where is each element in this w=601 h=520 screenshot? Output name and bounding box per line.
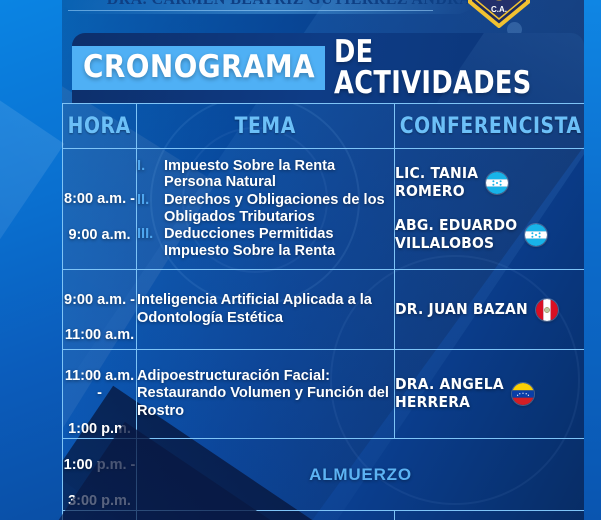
time-range: 9:00 a.m. - 11:00 a.m. [63,274,136,345]
schedule-table-wrapper: HORA TEMA CONFERENCISTA 8:00 a.m. - [62,103,584,520]
time-start: 9:00 a.m. - [64,292,135,308]
lunch-label: ALMUERZO [309,465,412,484]
topic-item: Derechos y Obligaciones de los Obligados… [137,192,394,225]
cell-time [63,511,137,520]
topic-list: Impuesto Sobre la Renta Persona Natural … [137,158,394,260]
column-header-conferencista: CONFERENCISTA [395,104,585,149]
speaker-name: DR. JUAN BAZAN [395,301,528,319]
cell-time: 1:00 p.m. - 3:00 p.m. [63,439,137,511]
top-speaker-banner: DRA. CARMEN BEATRIZ GUTIERREZ ANDRADE [0,0,601,14]
cell-topic: Inteligencia Artificial Aplicada a la Od… [137,270,395,350]
time-range: 11:00 a.m. - 1:00 p.m. [63,350,136,438]
page-edge-left-sheen [0,60,64,520]
topic-item: Deducciones Permitidas Impuesto Sobre la… [137,226,394,259]
column-header-hora: HORA [63,104,137,149]
cell-speaker: DR. JUAN BAZAN [395,270,585,350]
banner-rule [68,10,433,11]
cell-time: 8:00 a.m. - 9:00 a.m. [63,149,137,270]
cell-topic [137,511,395,520]
shield-badge-text: C.A. [491,5,507,14]
page-title-rest: DE ACTIVIDADES [334,37,564,99]
schedule-table: HORA TEMA CONFERENCISTA 8:00 a.m. - [62,103,584,520]
column-header-tema: TEMA [137,104,395,149]
cell-lunch: ALMUERZO [137,439,585,511]
speaker-name-line: DRA. ANGELA [395,375,504,393]
cell-time: 11:00 a.m. - 1:00 p.m. [63,350,137,439]
time-end: 9:00 a.m. [68,227,130,243]
banner-glow [60,0,480,14]
speaker-entry: ABG. EDUARDO VILLALOBOS [395,217,584,253]
honduras-flag-icon [486,172,508,194]
topic-text: Inteligencia Artificial Aplicada a la Od… [137,292,394,328]
time-start: 1:00 p.m. - [64,457,136,473]
time-end: 11:00 a.m. [65,327,134,343]
table-row: 9:00 a.m. - 11:00 a.m. Inteligencia Arti… [63,270,585,350]
time-end: 1:00 p.m. [68,421,131,437]
topic-item: Impuesto Sobre la Renta Persona Natural [137,158,394,191]
table-header-row: HORA TEMA CONFERENCISTA [63,104,585,149]
cell-speaker: LIC. TANIA ROMERO [395,149,585,270]
topic-text: Adipoestructuración Facial: Restaurando … [137,368,394,421]
honduras-flag-icon [525,224,547,246]
speaker-name-line: ROMERO [395,182,465,200]
time-range: 1:00 p.m. - 3:00 p.m. [63,439,136,510]
title-bar: CRONOGRAMA DE ACTIVIDADES [72,33,584,103]
column-header-tema-label: TEMA [235,114,296,139]
column-header-conferencista-label: CONFERENCISTA [400,114,582,139]
speaker-name-line: ABG. EDUARDO [395,216,517,234]
venezuela-flag-icon [512,383,534,405]
time-end: 3:00 p.m. [68,493,131,509]
table-row [63,511,585,520]
speaker-name-line: VILLALOBOS [395,234,494,252]
page-title-highlight: CRONOGRAMA [83,49,315,85]
cronograma-poster: DRA. CARMEN BEATRIZ GUTIERREZ ANDRADE C.… [0,0,601,520]
speaker-name-line: HERRERA [395,393,470,411]
cell-speaker [395,511,585,520]
time-range: 8:00 a.m. - 9:00 a.m. [63,174,136,245]
peru-flag-icon [536,299,558,321]
table-row: 11:00 a.m. - 1:00 p.m. Adipoestructuraci… [63,350,585,439]
speaker-name-line: LIC. TANIA [395,164,478,182]
title-highlight-block: CRONOGRAMA [72,46,325,90]
speaker-entry: LIC. TANIA ROMERO [395,165,584,201]
speaker-entry: DR. JUAN BAZAN [395,299,584,321]
speaker-entry: DRA. ANGELA HERRERA [395,376,584,412]
time-start: 11:00 a.m. - [65,368,134,402]
time-start: 8:00 a.m. - [64,191,135,207]
page-edge-left [0,0,62,520]
cell-time: 9:00 a.m. - 11:00 a.m. [63,270,137,350]
shield-badge-icon: C.A. [466,0,532,28]
speaker-name: ABG. EDUARDO VILLALOBOS [395,217,517,253]
cell-topic: Adipoestructuración Facial: Restaurando … [137,350,395,439]
cell-topic: Impuesto Sobre la Renta Persona Natural … [137,149,395,270]
speaker-name: DRA. ANGELA HERRERA [395,376,504,412]
table-row: 8:00 a.m. - 9:00 a.m. Impuesto Sobre la … [63,149,585,270]
cell-speaker: DRA. ANGELA HERRERA [395,350,585,439]
speaker-name: LIC. TANIA ROMERO [395,165,478,201]
page-edge-right [584,0,601,520]
top-speaker-name: DRA. CARMEN BEATRIZ GUTIERREZ ANDRADE [0,0,601,9]
column-header-hora-label: HORA [68,114,131,139]
table-row-lunch: 1:00 p.m. - 3:00 p.m. ALMUERZO [63,439,585,511]
